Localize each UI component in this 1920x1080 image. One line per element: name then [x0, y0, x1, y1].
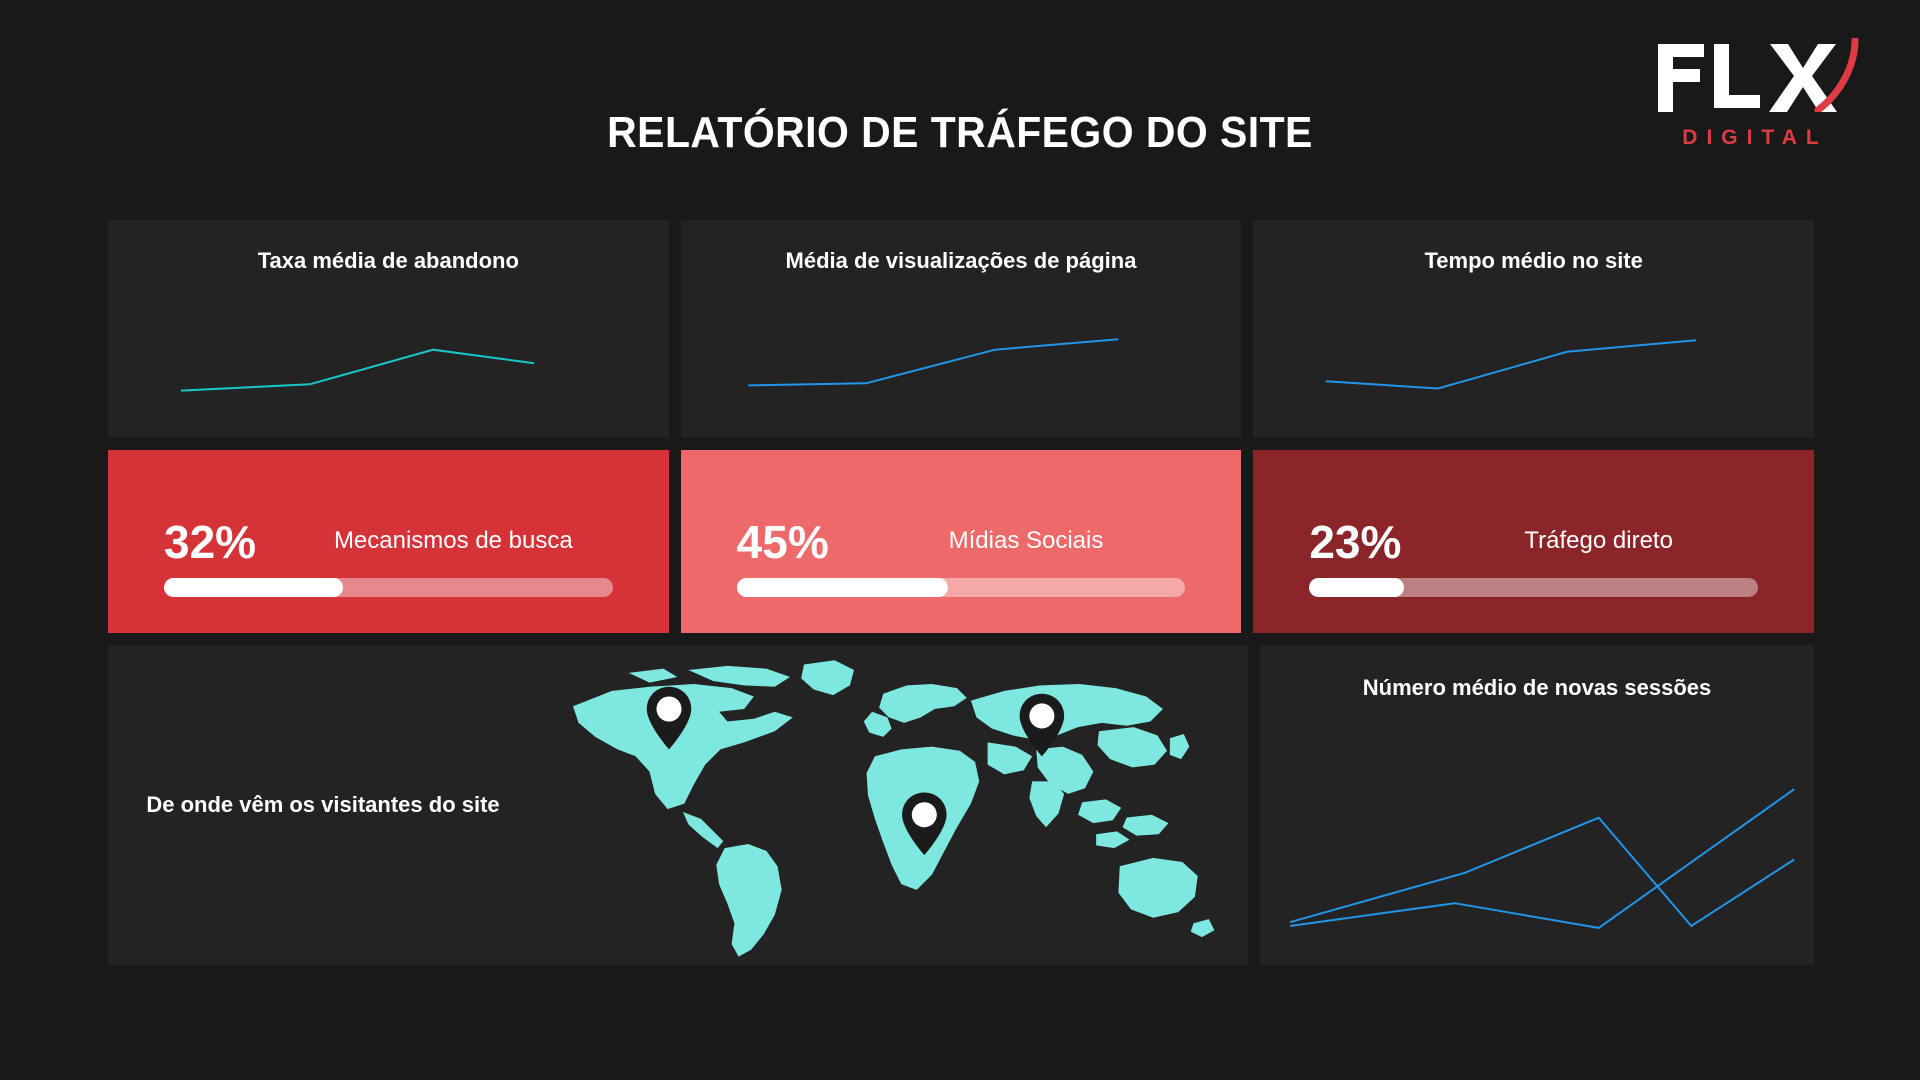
- metrics-row: Taxa média de abandono Média de visualiz…: [108, 220, 1814, 438]
- progress-bar-track: [164, 578, 613, 597]
- progress-bar-track: [1309, 578, 1758, 597]
- source-card-label: Mídias Sociais: [857, 525, 1186, 557]
- metric-card-time-on-site[interactable]: Tempo médio no site: [1253, 220, 1814, 438]
- dashboard-page: DIGITAL RELATÓRIO DE TRÁFEGO DO SITE Tax…: [0, 0, 1920, 1080]
- source-card-social-media[interactable]: 45% Mídias Sociais: [681, 450, 1242, 633]
- traffic-sources-row: 32% Mecanismos de busca 45% Mídias Socia…: [108, 450, 1814, 633]
- sparkline-time-on-site: [1253, 220, 1814, 438]
- logo-mark-flx: [1650, 38, 1860, 112]
- new-sessions-chart: [1260, 645, 1814, 965]
- dashboard-grid: Taxa média de abandono Média de visualiz…: [108, 220, 1814, 965]
- progress-bar-fill: [737, 578, 948, 597]
- sparkline-bounce-rate: [108, 220, 669, 438]
- map-caption: De onde vêm os visitantes do site: [108, 792, 538, 818]
- sparkline-pageviews: [681, 220, 1242, 438]
- new-sessions-panel[interactable]: Número médio de novas sessões: [1260, 645, 1814, 965]
- bottom-row: De onde vêm os visitantes do site: [108, 645, 1814, 965]
- source-card-search-engines[interactable]: 32% Mecanismos de busca: [108, 450, 669, 633]
- progress-bar-fill: [164, 578, 343, 597]
- world-map-icon: [538, 645, 1248, 965]
- progress-bar-fill: [1309, 578, 1403, 597]
- progress-bar-track: [737, 578, 1186, 597]
- source-card-direct-traffic[interactable]: 23% Tráfego direto: [1253, 450, 1814, 633]
- flx-wordmark-icon: [1650, 38, 1860, 112]
- pin-eurasia[interactable]: [1020, 694, 1065, 757]
- visitors-map-panel[interactable]: De onde vêm os visitantes do site: [108, 645, 1248, 965]
- page-title: RELATÓRIO DE TRÁFEGO DO SITE: [67, 108, 1853, 158]
- metric-card-pageviews[interactable]: Média de visualizações de página: [681, 220, 1242, 438]
- source-card-value: 23%: [1309, 519, 1429, 565]
- source-card-label: Mecanismos de busca: [284, 525, 613, 557]
- metric-card-bounce-rate[interactable]: Taxa média de abandono: [108, 220, 669, 438]
- source-card-label: Tráfego direto: [1429, 525, 1758, 557]
- source-card-value: 32%: [164, 519, 284, 565]
- source-card-value: 45%: [737, 519, 857, 565]
- world-map[interactable]: [538, 645, 1248, 965]
